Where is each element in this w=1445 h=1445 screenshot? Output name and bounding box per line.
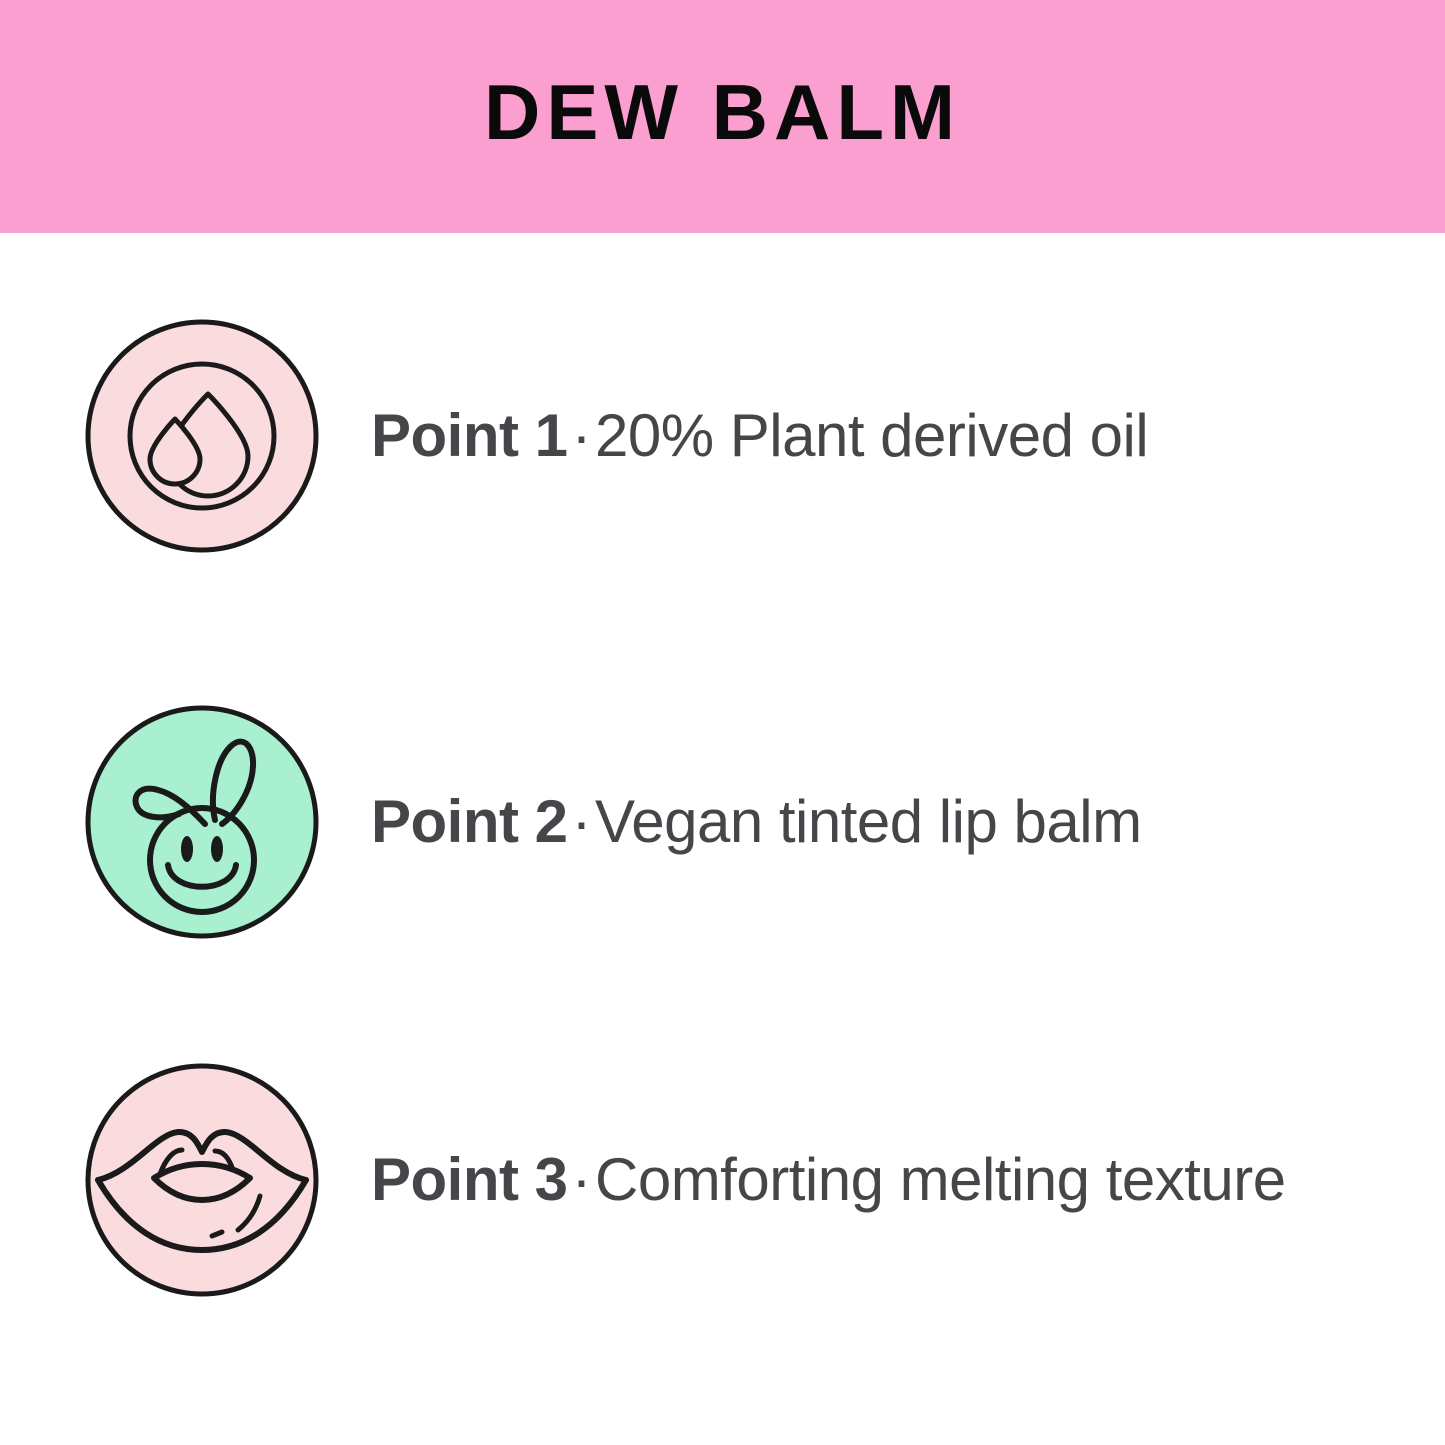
header-banner: DEW BALM bbox=[0, 0, 1445, 233]
feature-list: Point 1·20% Plant derived oil Point 2·Ve… bbox=[0, 233, 1445, 1445]
page-title: DEW BALM bbox=[484, 73, 961, 151]
feature-point-label: Point 2 bbox=[371, 788, 568, 855]
feature-description: 20% Plant derived oil bbox=[595, 402, 1148, 469]
feature-row: Point 1·20% Plant derived oil bbox=[0, 311, 1445, 561]
feature-point-label: Point 1 bbox=[371, 402, 568, 469]
bunny-smiley-icon bbox=[82, 702, 322, 942]
feature-description: Vegan tinted lip balm bbox=[595, 788, 1142, 855]
feature-text: Point 2·Vegan tinted lip balm bbox=[371, 789, 1142, 855]
feature-text: Point 3·Comforting melting texture bbox=[371, 1147, 1286, 1213]
feature-row: Point 3·Comforting melting texture bbox=[0, 1055, 1445, 1305]
feature-separator: · bbox=[568, 402, 595, 469]
feature-separator: · bbox=[568, 788, 595, 855]
feature-description: Comforting melting texture bbox=[595, 1146, 1286, 1213]
water-drop-icon bbox=[82, 316, 322, 556]
lips-icon bbox=[82, 1060, 322, 1300]
feature-separator: · bbox=[568, 1146, 595, 1213]
feature-point-label: Point 3 bbox=[371, 1146, 568, 1213]
feature-row: Point 2·Vegan tinted lip balm bbox=[0, 697, 1445, 947]
feature-text: Point 1·20% Plant derived oil bbox=[371, 403, 1148, 469]
